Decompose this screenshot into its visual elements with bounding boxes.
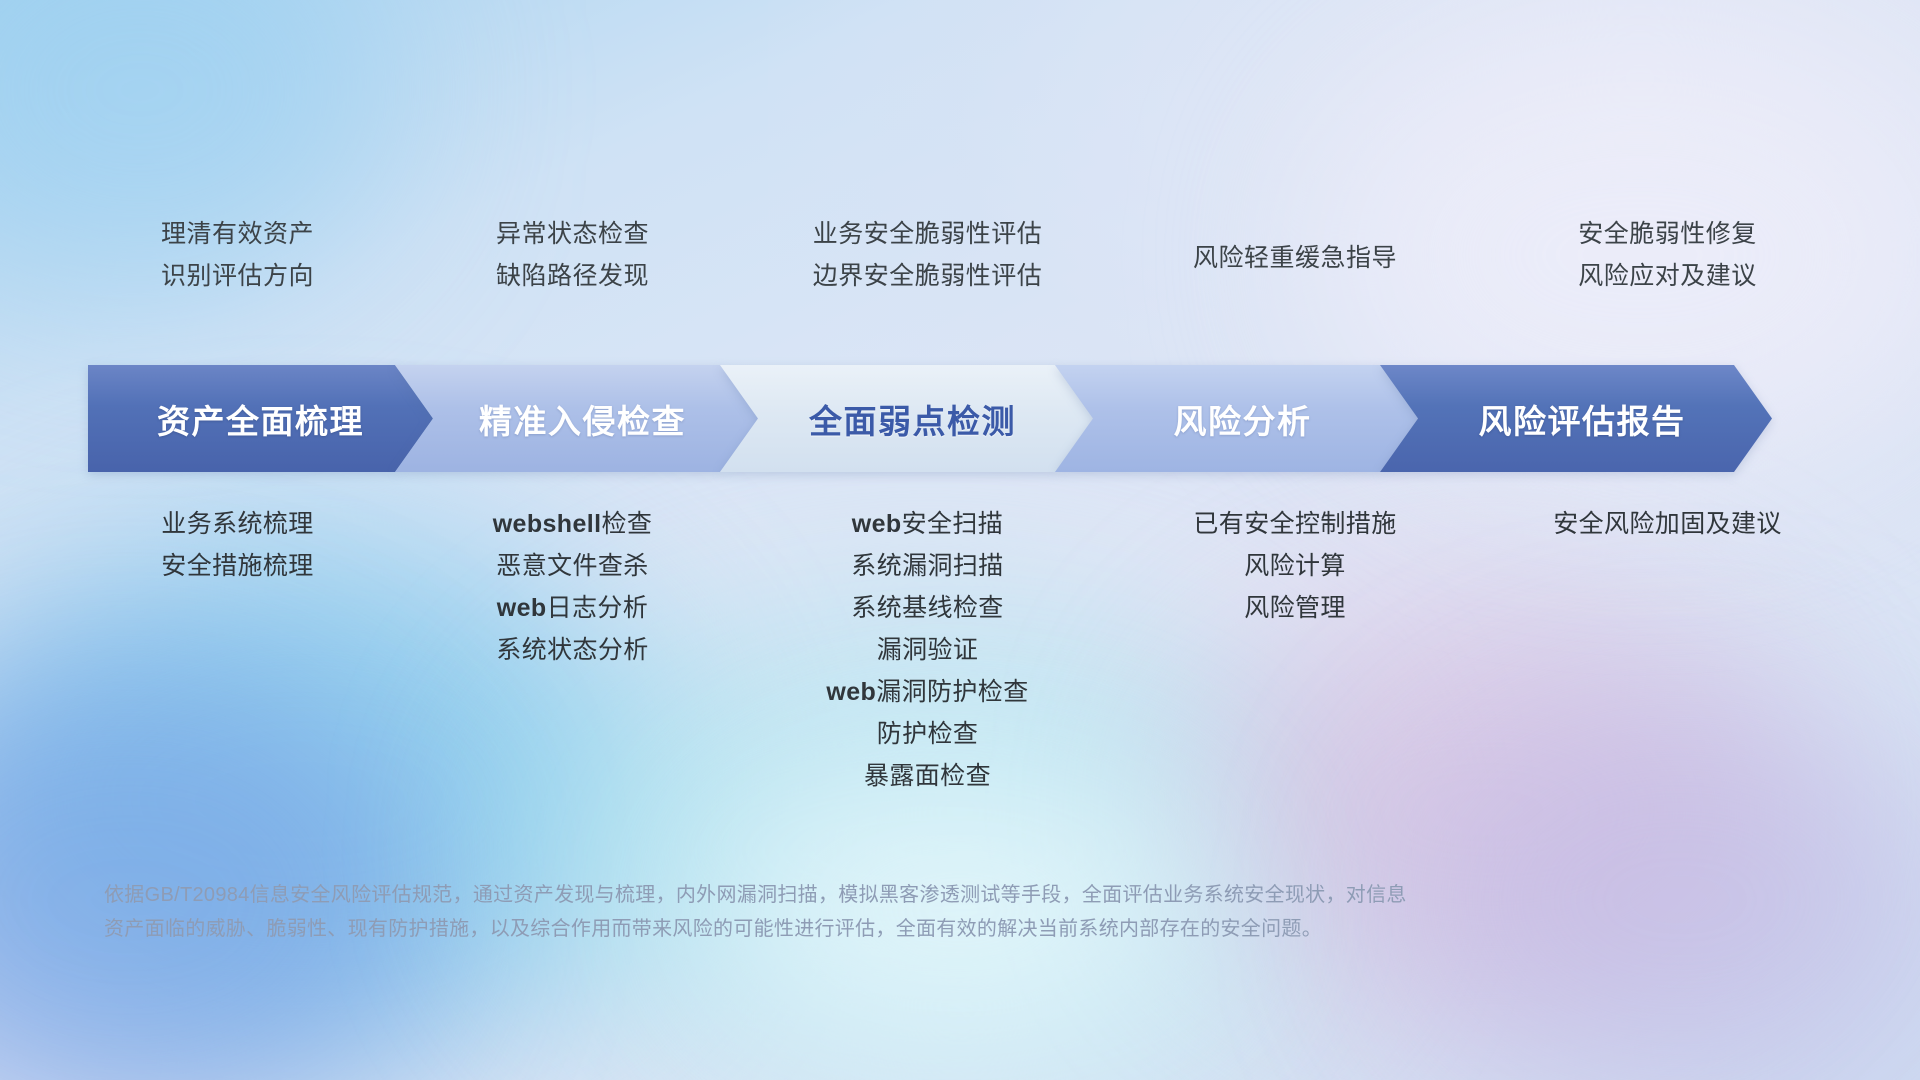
footer-line-1: 依据GB/T20984信息安全风险评估规范，通过资产发现与梳理，内外网漏洞扫描，… (104, 878, 1624, 912)
bottom-label: 系统漏洞扫描 (851, 554, 1003, 579)
top-label: 识别评估方向 (161, 264, 314, 289)
bottom-label: 漏洞验证 (877, 638, 979, 663)
stage-title: 资产全面梳理 (157, 395, 364, 443)
bottom-label: 恶意文件查杀 (496, 554, 648, 579)
stage-chevron-2[interactable]: 精准入侵检查 (395, 365, 758, 472)
bottom-label: web安全扫描 (852, 512, 1003, 537)
process-diagram: 理清有效资产 识别评估方向 异常状态检查 缺陷路径发现 业务安全脆弱性评估 边界… (0, 0, 1920, 1080)
footer-description: 依据GB/T20984信息安全风险评估规范，通过资产发现与梳理，内外网漏洞扫描，… (104, 878, 1624, 946)
top-label: 异常状态检查 (496, 222, 649, 247)
bottom-label: 安全风险加固及建议 (1553, 512, 1782, 537)
stage-title: 风险分析 (1174, 395, 1312, 443)
top-labels-stage-5: 安全脆弱性修复 风险应对及建议 (1475, 222, 1860, 289)
top-labels-stage-1: 理清有效资产 识别评估方向 (70, 222, 405, 289)
stage-chevron-4[interactable]: 风险分析 (1055, 365, 1418, 472)
bottom-label: 业务系统梳理 (161, 512, 313, 537)
bottom-label: 风险管理 (1244, 596, 1346, 621)
stage-title: 精准入侵检查 (479, 395, 686, 443)
bottom-label: 风险计算 (1244, 554, 1346, 579)
top-label-row: 理清有效资产 识别评估方向 异常状态检查 缺陷路径发现 业务安全脆弱性评估 边界… (70, 222, 1860, 289)
top-labels-stage-2: 异常状态检查 缺陷路径发现 (405, 222, 740, 289)
bottom-labels-stage-5: 安全风险加固及建议 (1475, 512, 1860, 537)
stage-chevron-1[interactable]: 资产全面梳理 (88, 365, 433, 472)
stage-chevron-5[interactable]: 风险评估报告 (1380, 365, 1772, 472)
bottom-label: webshell检查 (493, 512, 653, 537)
bottom-labels-stage-3: web安全扫描 系统漏洞扫描 系统基线检查 漏洞验证 web漏洞防护检查 防护检… (740, 512, 1115, 789)
top-label: 风险应对及建议 (1578, 264, 1757, 289)
top-label: 安全脆弱性修复 (1578, 222, 1757, 247)
bottom-label-row: 业务系统梳理 安全措施梳理 webshell检查 恶意文件查杀 web日志分析 … (70, 512, 1860, 789)
top-label: 缺陷路径发现 (496, 264, 649, 289)
bottom-labels-stage-4: 已有安全控制措施 风险计算 风险管理 (1115, 512, 1475, 621)
top-labels-stage-3: 业务安全脆弱性评估 边界安全脆弱性评估 (740, 222, 1115, 289)
bottom-labels-stage-2: webshell检查 恶意文件查杀 web日志分析 系统状态分析 (405, 512, 740, 663)
bottom-label: 防护检查 (877, 722, 979, 747)
top-label: 理清有效资产 (161, 222, 314, 247)
bottom-label: 系统状态分析 (496, 638, 648, 663)
footer-line-2: 资产面临的威胁、脆弱性、现有防护措施，以及综合作用而带来风险的可能性进行评估，全… (104, 912, 1624, 946)
top-label: 边界安全脆弱性评估 (813, 264, 1043, 289)
stage-chevron-3[interactable]: 全面弱点检测 (720, 365, 1093, 472)
top-label: 业务安全脆弱性评估 (813, 222, 1043, 247)
stage-title: 全面弱点检测 (809, 395, 1016, 443)
bottom-label: 系统基线检查 (851, 596, 1003, 621)
stage-chevron-banner: 资产全面梳理 精准入侵检查 全面弱点检测 风险分析 风险评估报告 (88, 365, 1848, 472)
top-label: 风险轻重缓急指导 (1193, 246, 1397, 271)
top-labels-stage-4: 风险轻重缓急指导 (1115, 222, 1475, 289)
bottom-labels-stage-1: 业务系统梳理 安全措施梳理 (70, 512, 405, 579)
stage-title: 风险评估报告 (1479, 395, 1686, 443)
bottom-label: 安全措施梳理 (161, 554, 313, 579)
bottom-label: web日志分析 (497, 596, 648, 621)
bottom-label: web漏洞防护检查 (826, 680, 1028, 705)
bottom-label: 已有安全控制措施 (1193, 512, 1396, 537)
bottom-label: 暴露面检查 (864, 764, 991, 789)
